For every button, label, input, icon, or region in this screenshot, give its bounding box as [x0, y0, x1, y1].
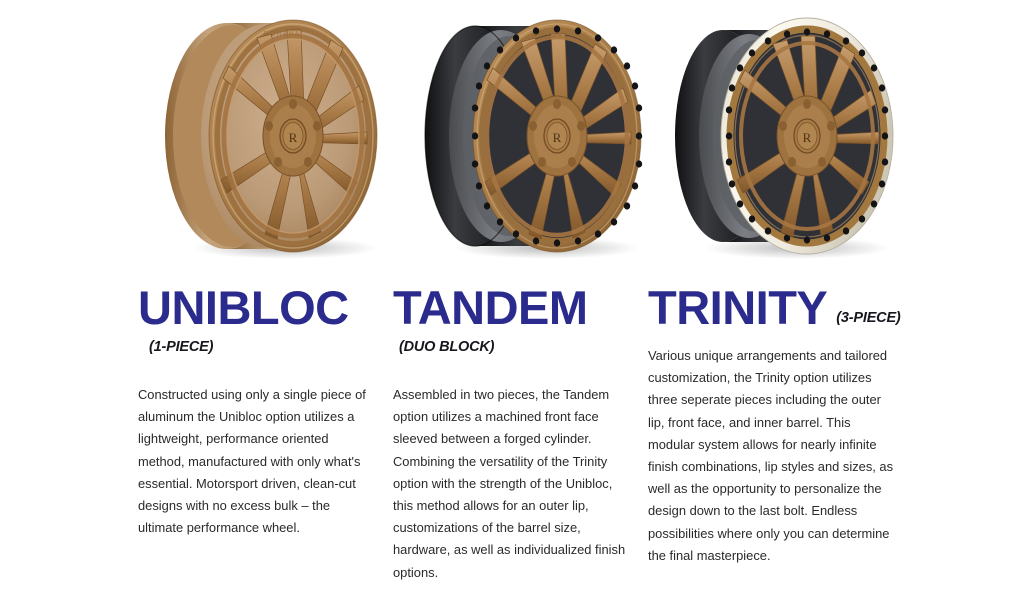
- construction-options: UNIBLOC (1-PIECE) Constructed using only…: [0, 268, 1024, 566]
- tandem-wheel-image: R ROHANA: [405, 12, 665, 260]
- option-column-tandem: TANDEM (DUO BLOCK) Assembled in two piec…: [393, 268, 629, 597]
- wheel-gallery: R ROHANA: [0, 0, 1024, 268]
- option-column-trinity: TRINITY(3-PIECE) Various unique arrangem…: [648, 268, 894, 580]
- trinity-description: Various unique arrangements and tailored…: [648, 345, 894, 567]
- unibloc-heading-line: UNIBLOC: [138, 268, 370, 331]
- center-cap-logo: R: [289, 130, 298, 145]
- unibloc-description: Constructed using only a single piece of…: [138, 384, 370, 539]
- trinity-heading-line: TRINITY(3-PIECE): [648, 268, 894, 331]
- tandem-heading-line: TANDEM: [393, 268, 629, 331]
- trinity-wheel-image: R: [655, 12, 915, 260]
- unibloc-subheading: (1-PIECE): [149, 340, 213, 355]
- option-column-unibloc: UNIBLOC (1-PIECE) Constructed using only…: [138, 268, 370, 552]
- unibloc-heading: UNIBLOC: [138, 284, 349, 331]
- rim-brand-text: ROHANA: [263, 31, 300, 38]
- tandem-description: Assembled in two pieces, the Tandem opti…: [393, 384, 629, 584]
- unibloc-subheading-line: (1-PIECE): [138, 331, 370, 356]
- trinity-subheading: (3-PIECE): [836, 311, 900, 326]
- trinity-heading: TRINITY: [648, 284, 827, 331]
- rim-brand-text: ROHANA: [532, 33, 569, 40]
- center-cap-logo: R: [553, 130, 562, 145]
- center-cap-logo: R: [803, 130, 812, 145]
- tandem-heading: TANDEM: [393, 284, 588, 331]
- tandem-subheading: (DUO BLOCK): [399, 340, 494, 355]
- tandem-subheading-line: (DUO BLOCK): [393, 331, 629, 356]
- unibloc-wheel-image: R ROHANA: [145, 12, 405, 260]
